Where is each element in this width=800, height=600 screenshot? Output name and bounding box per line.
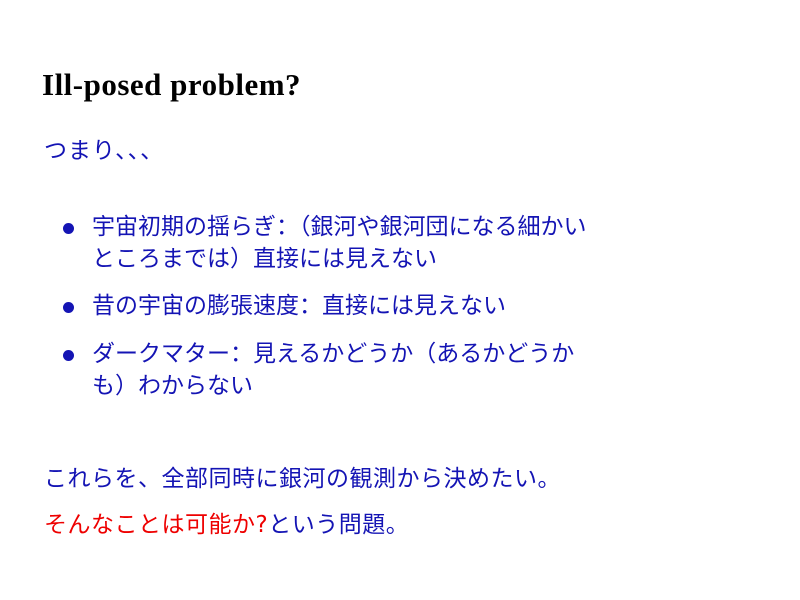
- bullet-circle-icon: [63, 350, 74, 361]
- bullet-circle-icon: [63, 223, 74, 234]
- closing-question-emphasis: そんなことは可能か?: [44, 512, 268, 538]
- list-item: 昔の宇宙の膨張速度：直接には見えない: [60, 291, 780, 323]
- bullet-circle-icon: [63, 302, 74, 313]
- list-item-text: 昔の宇宙の膨張速度：直接には見えない: [92, 291, 780, 323]
- list-item-text: ダークマター：見えるかどうか（あるかどうか も）わからない: [92, 339, 780, 402]
- list-item-line: 宇宙初期の揺らぎ：（銀河や銀河団になる細かい: [92, 212, 780, 244]
- list-item: ダークマター：見えるかどうか（あるかどうか も）わからない: [60, 339, 780, 402]
- page-title: Ill-posed problem?: [42, 68, 301, 102]
- list-item: 宇宙初期の揺らぎ：（銀河や銀河団になる細かい ところまでは）直接には見えない: [60, 212, 780, 275]
- closing-line-two: そんなことは可能か?という問題。: [44, 514, 784, 537]
- list-item-text: 宇宙初期の揺らぎ：（銀河や銀河団になる細かい ところまでは）直接には見えない: [92, 212, 780, 275]
- closing-block: これらを、全部同時に銀河の観測から決めたい。 そんなことは可能か?という問題。: [44, 468, 784, 560]
- list-item-line: ところまでは）直接には見えない: [92, 244, 780, 276]
- slide-canvas: Ill-posed problem? つまり、、、 宇宙初期の揺らぎ：（銀河や銀…: [0, 0, 800, 600]
- closing-line-one: これらを、全部同時に銀河の観測から決めたい。: [44, 468, 784, 491]
- bullet-list: 宇宙初期の揺らぎ：（銀河や銀河団になる細かい ところまでは）直接には見えない 昔…: [60, 212, 780, 419]
- closing-question-tail: という問題。: [268, 512, 409, 538]
- list-item-line: 昔の宇宙の膨張速度：直接には見えない: [92, 291, 780, 323]
- list-item-line: も）わからない: [92, 371, 780, 403]
- list-item-line: ダークマター：見えるかどうか（あるかどうか: [92, 339, 780, 371]
- intro-text: つまり、、、: [44, 140, 164, 163]
